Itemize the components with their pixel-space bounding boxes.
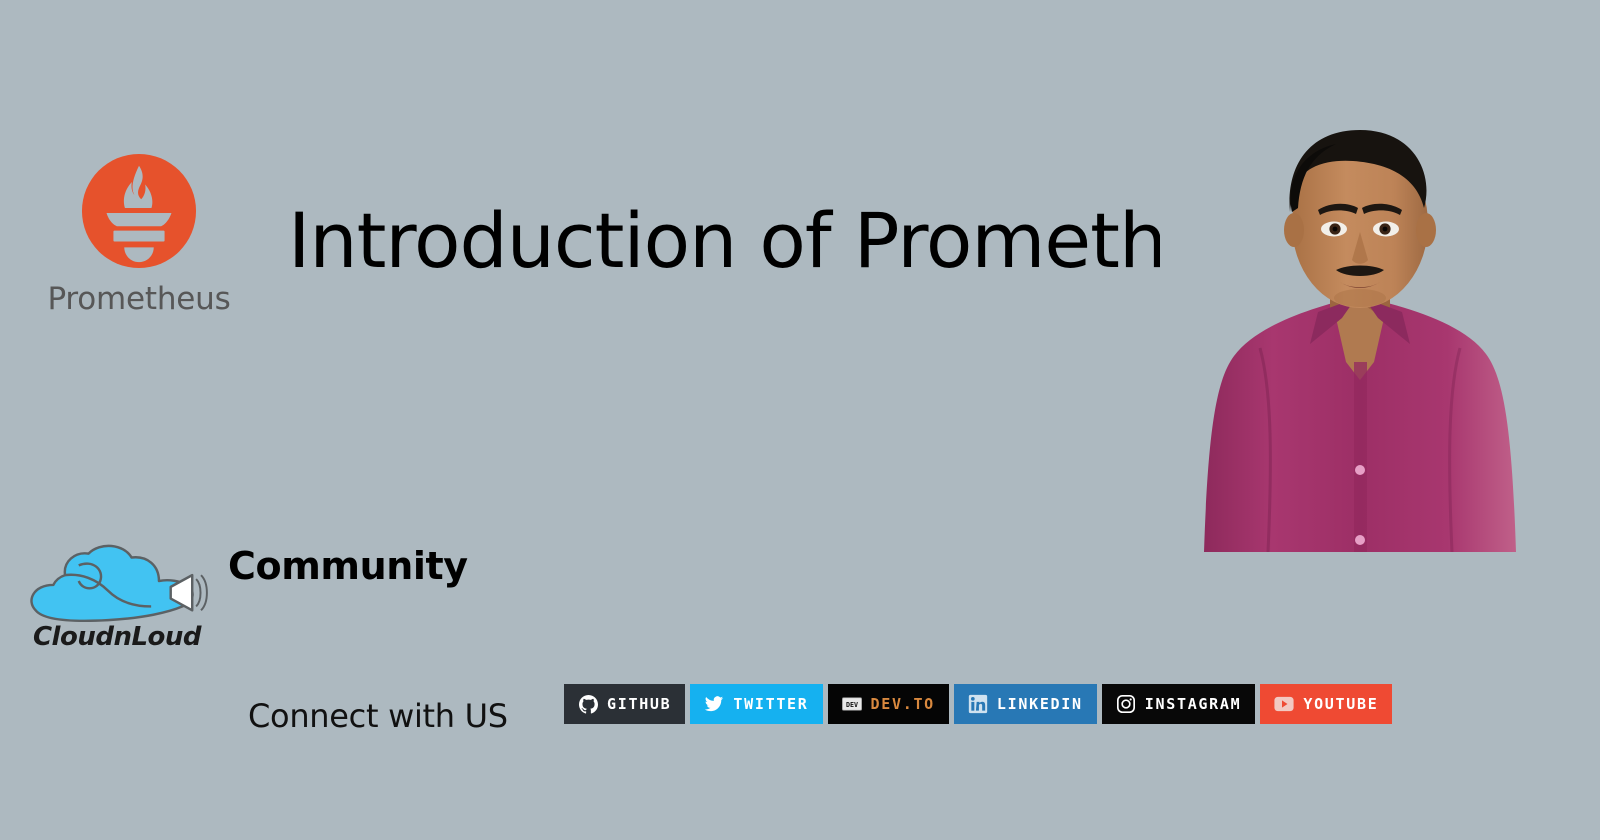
cloudnloud-brand-block: CloudnLoud bbox=[14, 536, 220, 652]
social-label-github: GITHUB bbox=[607, 697, 671, 712]
social-button-instagram[interactable]: INSTAGRAM bbox=[1102, 684, 1256, 724]
presentation-slide: Prometheus Introduction of Prometheus bbox=[0, 0, 1600, 840]
social-label-linkedin: LINKEDIN bbox=[997, 697, 1083, 712]
linkedin-icon bbox=[968, 694, 988, 714]
devto-icon: DEV bbox=[842, 694, 862, 714]
speaker-portrait-photo bbox=[1160, 112, 1560, 552]
community-heading: Community bbox=[228, 544, 468, 588]
social-button-github[interactable]: GITHUB bbox=[564, 684, 685, 724]
youtube-icon bbox=[1274, 694, 1294, 714]
social-links-bar: GITHUB TWITTER DEV DEV.TO bbox=[564, 684, 1392, 724]
twitter-icon bbox=[704, 694, 724, 714]
prometheus-label: Prometheus bbox=[44, 282, 234, 316]
social-label-youtube: YOUTUBE bbox=[1303, 697, 1378, 712]
svg-text:DEV: DEV bbox=[846, 701, 858, 709]
page-title: Introduction of Prometheus bbox=[288, 196, 1298, 286]
cloud-megaphone-icon bbox=[14, 536, 210, 626]
social-button-devto[interactable]: DEV DEV.TO bbox=[828, 684, 949, 724]
cloudnloud-label: CloudnLoud bbox=[14, 622, 220, 652]
connect-with-us-label: Connect with US bbox=[248, 697, 508, 735]
prometheus-flame-icon bbox=[80, 152, 198, 270]
social-button-linkedin[interactable]: LINKEDIN bbox=[954, 684, 1097, 724]
social-label-instagram: INSTAGRAM bbox=[1145, 697, 1242, 712]
social-label-devto: DEV.TO bbox=[871, 697, 935, 712]
social-label-twitter: TWITTER bbox=[733, 697, 808, 712]
social-button-twitter[interactable]: TWITTER bbox=[690, 684, 822, 724]
social-button-youtube[interactable]: YOUTUBE bbox=[1260, 684, 1392, 724]
github-icon bbox=[578, 694, 598, 714]
instagram-icon bbox=[1116, 694, 1136, 714]
prometheus-brand-block: Prometheus bbox=[44, 152, 234, 316]
